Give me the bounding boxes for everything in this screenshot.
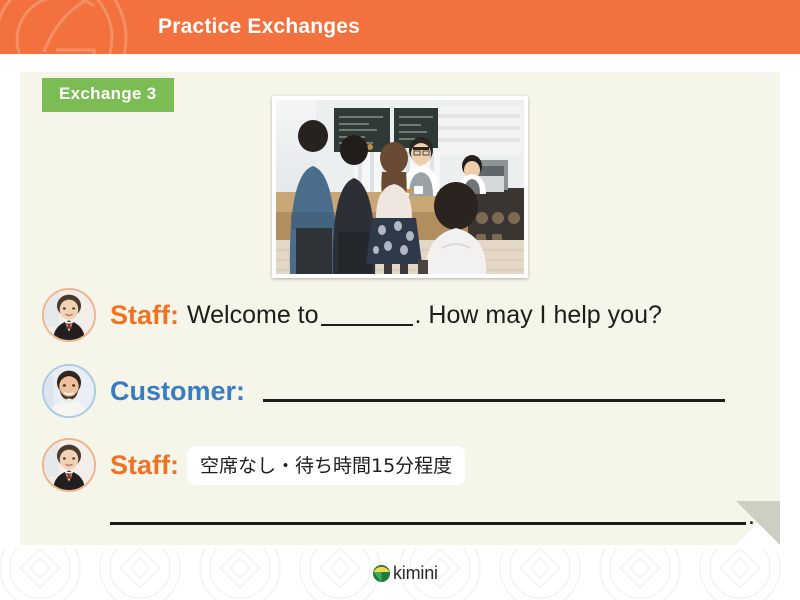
- customer-man-avatar-icon: [42, 364, 96, 418]
- slide: Practice Exchanges Exchange 3: [0, 0, 800, 600]
- slide-header: Practice Exchanges: [0, 0, 800, 54]
- dialogue-row-customer: Customer:: [42, 364, 758, 422]
- kimini-g-logo-watermark-icon: [0, 0, 132, 54]
- page-title: Practice Exchanges: [158, 0, 360, 54]
- kimini-wordmark: kimini: [393, 563, 438, 584]
- slide-footer: kimini: [0, 549, 800, 600]
- utterance-text-after: . How may I help you?: [415, 301, 662, 330]
- answer-blank-staff-2[interactable]: [110, 506, 746, 525]
- dialogue-line-1: Staff: Welcome to . How may I help you?: [110, 288, 662, 342]
- exchange-card: Exchange 3: [20, 72, 780, 545]
- answer-blank-staff-2-wrapper: .: [110, 506, 762, 525]
- dialogue-row-staff-1: Staff: Welcome to . How may I help you?: [42, 288, 758, 346]
- speaker-label-customer: Customer:: [110, 376, 245, 407]
- staff-woman-avatar-icon: [42, 438, 96, 492]
- dialogue-line-2: Customer:: [110, 364, 725, 418]
- cafe-counter-photo: [272, 96, 528, 278]
- staff-woman-avatar-icon: [42, 288, 96, 342]
- dialogue-line-3: Staff: 空席なし・待ち時間15分程度: [110, 438, 465, 492]
- japanese-hint-chip: 空席なし・待ち時間15分程度: [187, 446, 465, 485]
- utterance-text-before: Welcome to: [187, 301, 319, 330]
- page-fold-corner: [736, 501, 780, 545]
- answer-blank-inline[interactable]: [321, 306, 413, 326]
- dialogue-row-staff-2: Staff: 空席なし・待ち時間15分程度: [42, 438, 758, 496]
- speaker-label-staff: Staff:: [110, 300, 179, 331]
- speaker-label-staff: Staff:: [110, 450, 179, 481]
- kimini-logo: kimini: [372, 561, 438, 585]
- kimini-balloon-logo-icon: [372, 564, 391, 583]
- answer-blank-customer[interactable]: [263, 379, 725, 402]
- exchange-badge: Exchange 3: [42, 78, 174, 112]
